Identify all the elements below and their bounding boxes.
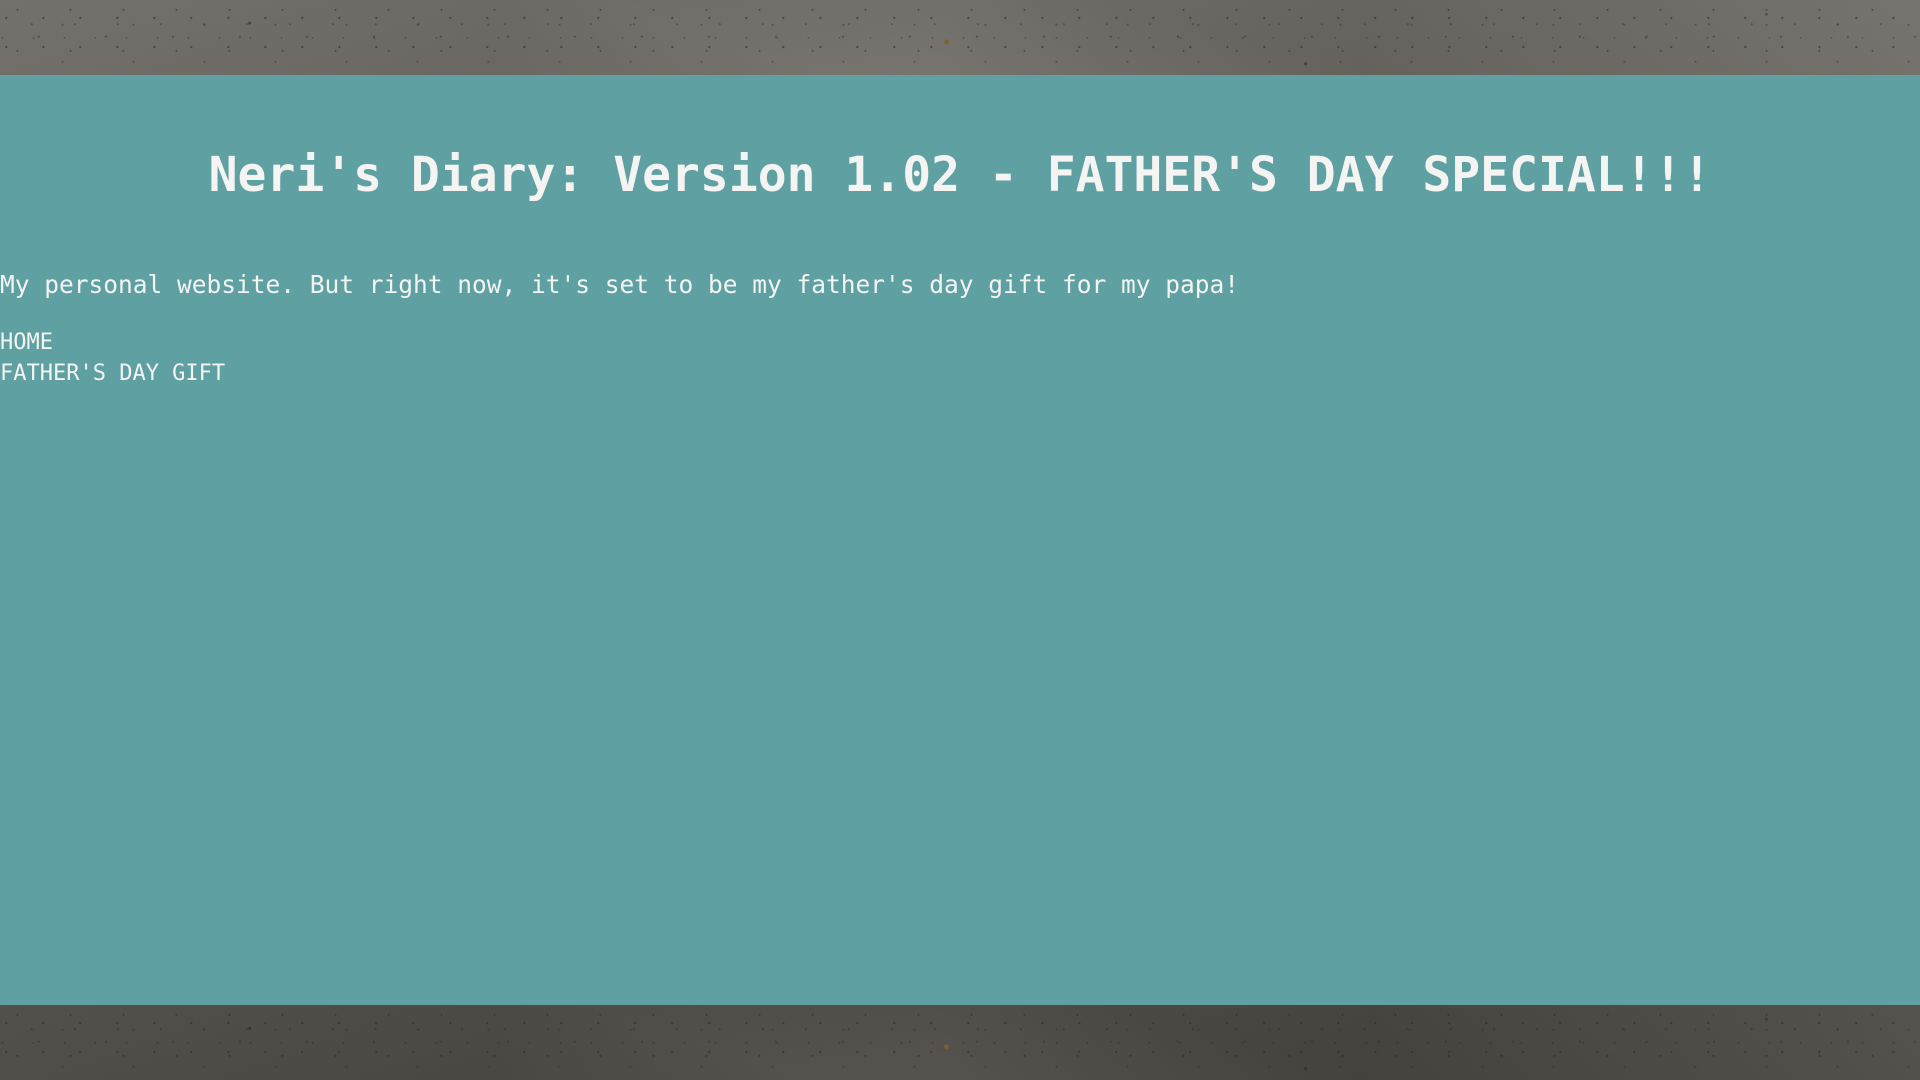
nav-link-fathers-day-gift[interactable]: FATHER'S DAY GIFT — [0, 358, 225, 389]
main-content-area: Neri's Diary: Version 1.02 - FATHER'S DA… — [0, 75, 1920, 1005]
page-root: Neri's Diary: Version 1.02 - FATHER'S DA… — [0, 0, 1920, 1080]
nav-link-home[interactable]: HOME — [0, 327, 225, 358]
page-tagline: My personal website. But right now, it's… — [0, 271, 1239, 299]
bottom-paper-texture-band — [0, 1005, 1920, 1080]
top-paper-texture-band — [0, 0, 1920, 75]
main-navigation: HOME FATHER'S DAY GIFT — [0, 327, 225, 389]
page-title: Neri's Diary: Version 1.02 - FATHER'S DA… — [0, 151, 1920, 199]
